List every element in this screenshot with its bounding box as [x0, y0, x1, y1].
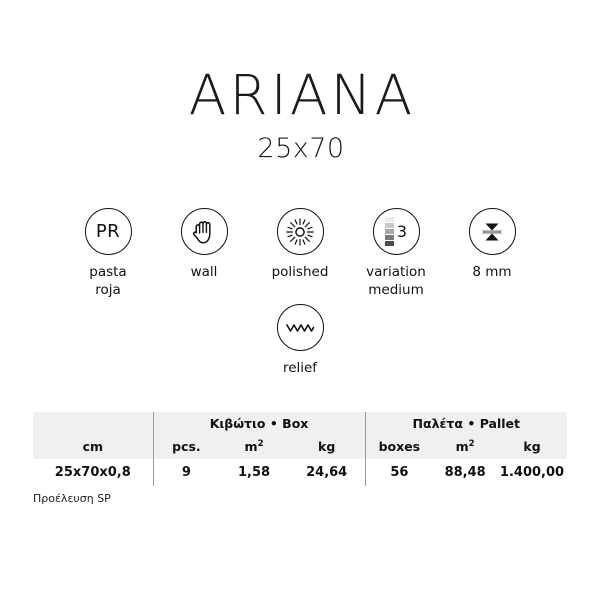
- shade-swatch-3: [385, 229, 394, 234]
- cell-cm: 25x70x0,8: [33, 459, 153, 486]
- table-row: 25x70x0,8 9 1,58 24,64 56 88,48 1.400,00: [33, 459, 567, 486]
- feature-icon-row-secondary: relief: [0, 304, 600, 378]
- feature-variation: 3 variation medium: [348, 208, 444, 300]
- feature-label: pasta roja: [89, 264, 126, 300]
- feature-label: polished: [272, 264, 329, 282]
- feature-pasta-roja: PR pasta roja: [60, 208, 156, 300]
- shade-swatch-1: [385, 217, 394, 222]
- title-block: ARIANA 25x70: [0, 68, 600, 162]
- feature-label: 8 mm: [472, 264, 511, 282]
- column-header-box-kg: kg: [289, 434, 365, 459]
- shade-swatch-2: [385, 223, 394, 228]
- feature-polished: polished: [252, 208, 348, 282]
- shade-swatch-4: [385, 235, 394, 240]
- feature-thickness: 8 mm: [444, 208, 540, 282]
- variation-shade-icon: 3: [373, 208, 420, 255]
- feature-relief: relief: [252, 304, 348, 378]
- unit-sup: 2: [258, 439, 264, 449]
- cell-pallet-boxes: 56: [365, 459, 433, 486]
- thickness-icon: [469, 208, 516, 255]
- feature-wall: wall: [156, 208, 252, 282]
- table-column-header-row: cm pcs. m2 kg boxes m2 kg: [33, 434, 567, 459]
- wave-glyph: [285, 321, 315, 335]
- page-title: ARIANA: [0, 68, 600, 123]
- cell-box-m2: 1,58: [219, 459, 289, 486]
- unit-m: m: [245, 439, 258, 454]
- pasta-roja-badge: PR: [96, 221, 120, 242]
- cell-box-pcs: 9: [153, 459, 219, 486]
- feature-label: relief: [283, 360, 317, 378]
- column-header-box-m2: m2: [219, 434, 289, 459]
- column-header-pallet-m2: m2: [433, 434, 497, 459]
- column-header-box-pcs: pcs.: [153, 434, 219, 459]
- shade-swatch-5: [385, 241, 394, 246]
- hand-glyph: [191, 218, 217, 246]
- feature-label: wall: [191, 264, 218, 282]
- unit-m: m: [456, 439, 469, 454]
- group-header-size: [33, 412, 153, 434]
- variation-badge: 3: [397, 224, 407, 240]
- group-header-box: Κιβώτιο • Box: [153, 412, 365, 434]
- product-size: 25x70: [0, 135, 600, 162]
- column-header-cm: cm: [33, 434, 153, 459]
- cell-pallet-kg: 1.400,00: [497, 459, 567, 486]
- table-group-header-row: Κιβώτιο • Box Παλέτα • Pallet: [33, 412, 567, 434]
- hand-wall-icon: [181, 208, 228, 255]
- feature-icon-row: PR pasta roja wall: [60, 208, 540, 300]
- group-header-pallet: Παλέτα • Pallet: [365, 412, 567, 434]
- variation-wrap: 3: [385, 217, 407, 246]
- cell-box-kg: 24,64: [289, 459, 365, 486]
- sun-polished-icon: [277, 208, 324, 255]
- sun-glyph: [285, 217, 315, 247]
- column-header-pallet-kg: kg: [497, 434, 567, 459]
- thickness-glyph: [477, 219, 507, 245]
- column-header-pallet-boxes: boxes: [365, 434, 433, 459]
- origin-note: Προέλευση SP: [33, 492, 111, 505]
- pasta-roja-icon: PR: [85, 208, 132, 255]
- cell-pallet-m2: 88,48: [433, 459, 497, 486]
- shade-stack: [385, 217, 394, 246]
- relief-wave-icon: [277, 304, 324, 351]
- spec-table: Κιβώτιο • Box Παλέτα • Pallet cm pcs. m2…: [33, 412, 567, 486]
- unit-sup: 2: [469, 439, 475, 449]
- feature-label: variation medium: [366, 264, 426, 300]
